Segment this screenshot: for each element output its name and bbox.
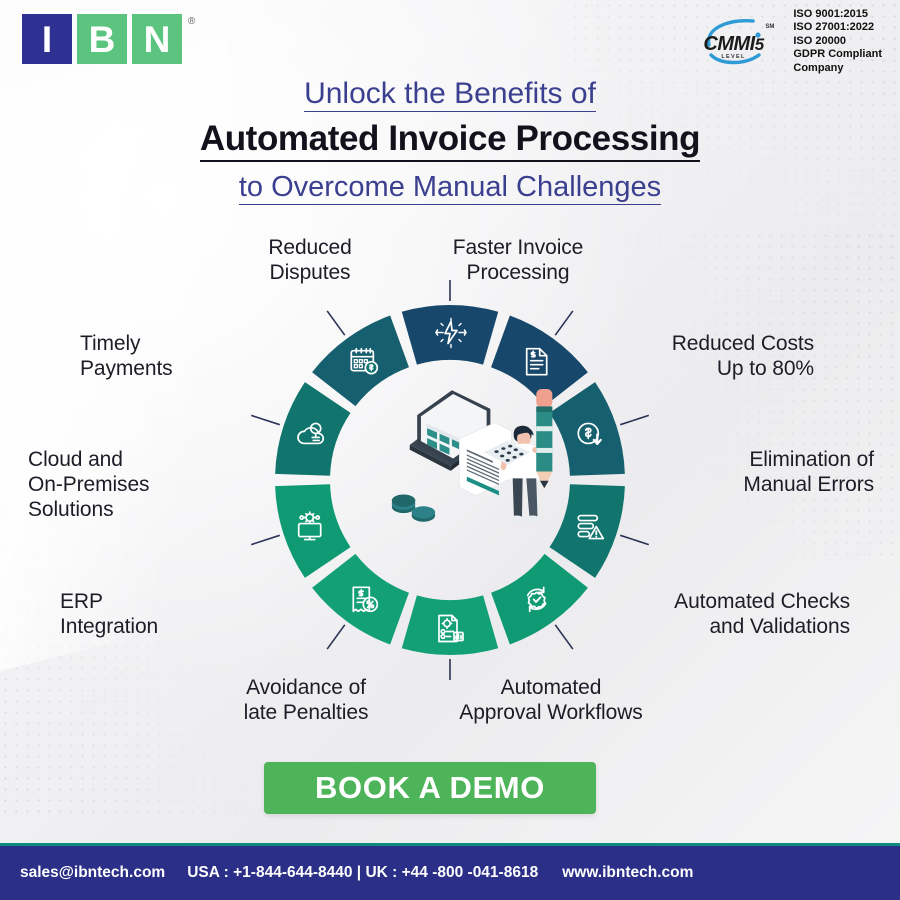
logo-square-b: B xyxy=(77,14,127,64)
label-avoidance-late-penalties: Avoidance of late Penalties xyxy=(206,676,406,726)
certifications-badge: CMMI5 LEVEL SM ISO 9001:2015 ISO 27001:2… xyxy=(701,8,882,75)
segment-connector-line xyxy=(555,311,573,335)
cert-line: ISO 20000 xyxy=(793,35,882,48)
logo-square-i: I xyxy=(22,14,72,64)
registered-trademark-icon: ® xyxy=(188,16,195,27)
footer-phones[interactable]: USA : +1-844-644-8440 | UK : +44 -800 -0… xyxy=(187,864,538,882)
cert-line: GDPR Compliant xyxy=(793,48,882,61)
cmmi-wordmark: CMMI5 xyxy=(703,33,763,56)
label-timely-payments: Timely Payments xyxy=(80,332,266,382)
footer-website[interactable]: www.ibntech.com xyxy=(562,864,693,882)
title-line-1: Unlock the Benefits of xyxy=(304,78,596,112)
ibn-logo[interactable]: I B N ® xyxy=(22,14,195,64)
cmmi-level-word: LEVEL xyxy=(721,54,745,60)
segment-connector-line xyxy=(327,625,345,649)
label-erp-integration: ERP Integration xyxy=(60,590,250,640)
segment-connector-line xyxy=(620,535,649,544)
cmmi-level5-logo: CMMI5 LEVEL SM xyxy=(701,15,787,69)
certification-list: ISO 9001:2015 ISO 27001:2022 ISO 20000 G… xyxy=(793,8,882,75)
book-a-demo-button[interactable]: BOOK A DEMO xyxy=(264,762,596,814)
label-automated-approval: Automated Approval Workflows xyxy=(428,676,674,726)
wheel-segment[interactable] xyxy=(275,484,350,578)
cert-line: ISO 9001:2015 xyxy=(793,8,882,21)
footer-email[interactable]: sales@ibntech.com xyxy=(20,864,165,882)
label-reduced-costs: Reduced Costs Up to 80% xyxy=(604,332,814,382)
cmmi-sm-mark: SM xyxy=(765,24,774,30)
label-automated-checks: Automated Checks and Validations xyxy=(620,590,850,640)
title-line-2: Automated Invoice Processing xyxy=(200,121,700,161)
dot-texture-bottom-left xyxy=(0,520,260,820)
label-elimination-manual-errors: Elimination of Manual Errors xyxy=(654,448,874,498)
segment-connector-line xyxy=(327,311,345,335)
wheel-segment[interactable] xyxy=(275,382,350,476)
segment-connector-line xyxy=(555,625,573,649)
footer-bar: sales@ibntech.com USA : +1-844-644-8440 … xyxy=(0,846,900,900)
infographic-poster: I B N ® CMMI5 LEVEL SM ISO 9001:2015 ISO… xyxy=(0,0,900,900)
label-cloud-on-premises: Cloud and On-Premises Solutions xyxy=(28,448,212,522)
segment-connector-line xyxy=(251,415,280,424)
label-faster-invoice-processing: Faster Invoice Processing xyxy=(420,236,616,286)
wheel-segment[interactable] xyxy=(312,316,409,407)
page-title: Unlock the Benefits of Automated Invoice… xyxy=(0,78,900,205)
cert-line: Company xyxy=(793,62,882,75)
segment-connector-line xyxy=(620,415,649,424)
logo-square-n: N xyxy=(132,14,182,64)
label-reduced-disputes: Reduced Disputes xyxy=(218,236,402,286)
segment-connector-line xyxy=(251,535,280,544)
title-line-3: to Overcome Manual Challenges xyxy=(239,172,661,205)
center-illustration xyxy=(392,389,553,523)
cert-line: ISO 27001:2022 xyxy=(793,21,882,34)
